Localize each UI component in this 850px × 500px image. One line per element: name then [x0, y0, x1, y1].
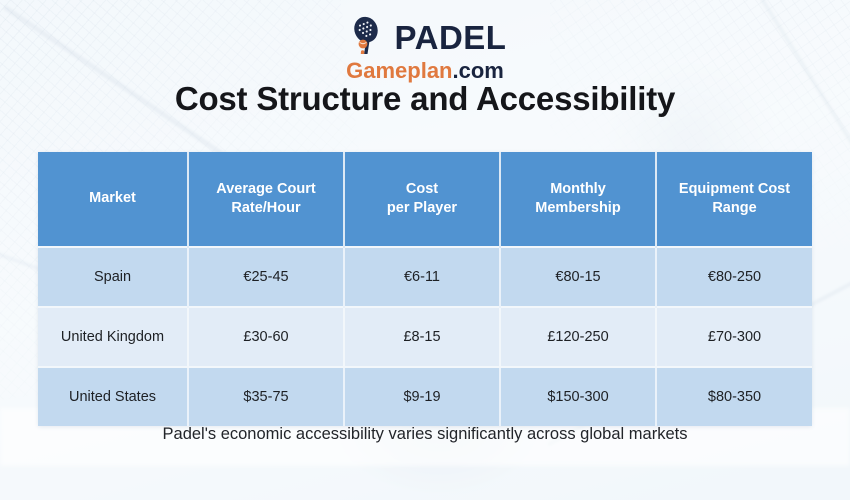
- cell-market: United Kingdom: [38, 307, 188, 367]
- column-header-cost-per-player: Cost per Player: [344, 152, 500, 247]
- cell-cost-per-player: £8-15: [344, 307, 500, 367]
- column-header-monthly-membership: Monthly Membership: [500, 152, 656, 247]
- cell-equipment-range: €80-250: [656, 247, 812, 307]
- column-header-line: Range: [712, 200, 756, 216]
- footer-note: Padel's economic accessibility varies si…: [0, 425, 850, 444]
- column-header-line: Average Court: [216, 181, 315, 197]
- column-header-line: Rate/Hour: [231, 200, 300, 216]
- table-row: United States $35-75 $9-19 $150-300 $80-…: [38, 367, 812, 426]
- column-header-equipment-cost-range: Equipment Cost Range: [656, 152, 812, 247]
- column-header-market: Market: [38, 152, 188, 247]
- column-header-average-court-rate: Average Court Rate/Hour: [188, 152, 344, 247]
- cell-court-rate: £30-60: [188, 307, 344, 367]
- column-header-line: per Player: [387, 200, 457, 216]
- infographic-page: PADEL Gameplan.com Cost Structure and Ac…: [0, 0, 850, 500]
- table-body: Spain €25-45 €6-11 €80-15 €80-250 United…: [38, 247, 812, 426]
- column-header-line: Cost: [406, 181, 438, 197]
- cell-market: United States: [38, 367, 188, 426]
- cell-cost-per-player: €6-11: [344, 247, 500, 307]
- column-header-line: Monthly: [550, 181, 606, 197]
- padel-racket-icon: [344, 16, 388, 59]
- table-header-row: Market Average Court Rate/Hour Cost per …: [38, 152, 812, 247]
- brand-logo: PADEL Gameplan.com: [0, 16, 850, 82]
- cell-court-rate: $35-75: [188, 367, 344, 426]
- cost-structure-table: Market Average Court Rate/Hour Cost per …: [38, 152, 812, 426]
- table-header: Market Average Court Rate/Hour Cost per …: [38, 152, 812, 247]
- table-row: Spain €25-45 €6-11 €80-15 €80-250: [38, 247, 812, 307]
- column-header-line: Market: [89, 190, 136, 206]
- cell-court-rate: €25-45: [188, 247, 344, 307]
- cell-monthly-membership: $150-300: [500, 367, 656, 426]
- table-row: United Kingdom £30-60 £8-15 £120-250 £70…: [38, 307, 812, 367]
- brand-name-padel: PADEL: [395, 21, 507, 54]
- page-title: Cost Structure and Accessibility: [0, 80, 850, 118]
- column-header-line: Membership: [535, 200, 620, 216]
- cell-monthly-membership: €80-15: [500, 247, 656, 307]
- cell-market: Spain: [38, 247, 188, 307]
- column-header-line: Equipment Cost: [679, 181, 790, 197]
- cell-monthly-membership: £120-250: [500, 307, 656, 367]
- cell-equipment-range: $80-350: [656, 367, 812, 426]
- cell-equipment-range: £70-300: [656, 307, 812, 367]
- cell-cost-per-player: $9-19: [344, 367, 500, 426]
